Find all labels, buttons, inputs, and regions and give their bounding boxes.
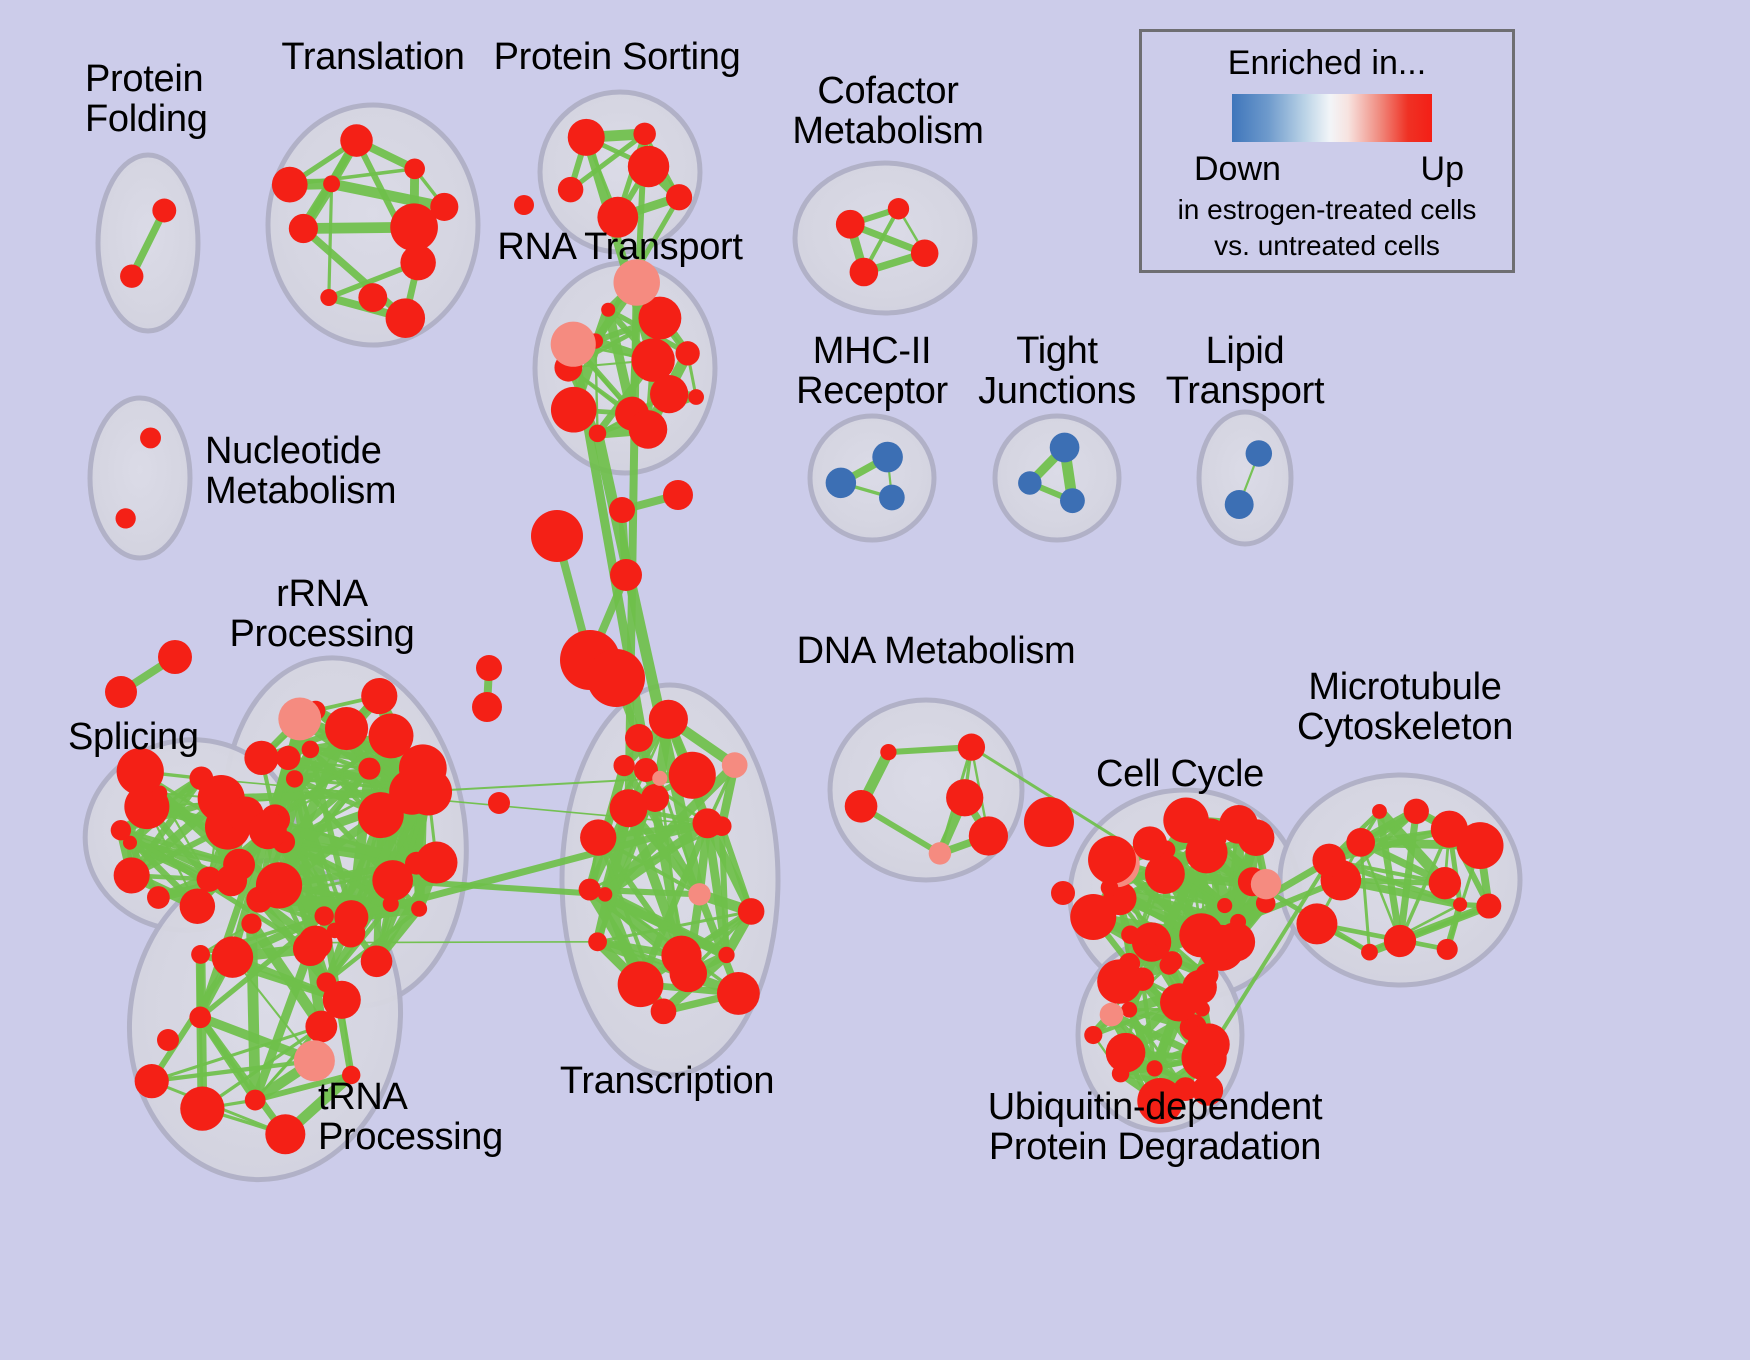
network-node — [215, 865, 247, 897]
network-node — [135, 1064, 169, 1098]
network-node — [416, 842, 458, 884]
enrichment-map-figure: Protein FoldingTranslationProtein Sortin… — [0, 0, 1750, 1360]
network-node — [302, 741, 319, 758]
network-node — [1084, 1026, 1102, 1044]
network-node — [286, 770, 303, 787]
network-node — [669, 752, 716, 799]
legend-panel: Enriched in... Down Up in estrogen-treat… — [1139, 29, 1515, 273]
network-node — [688, 883, 710, 905]
network-node — [383, 896, 399, 912]
network-node — [358, 758, 380, 780]
cluster-label-protein-sorting: Protein Sorting — [494, 38, 741, 78]
legend-high-label: Up — [1421, 150, 1464, 189]
network-node — [1097, 959, 1141, 1003]
network-node — [579, 879, 601, 901]
network-node — [651, 998, 677, 1024]
network-node — [320, 289, 337, 306]
network-node — [140, 427, 161, 448]
network-node — [888, 198, 909, 219]
network-node — [404, 158, 425, 179]
network-node — [289, 214, 318, 243]
network-node — [314, 906, 333, 925]
network-node — [278, 697, 321, 740]
network-node — [650, 375, 688, 413]
network-node — [399, 744, 447, 792]
network-node — [688, 389, 704, 405]
network-node — [340, 124, 373, 157]
network-node — [872, 442, 903, 473]
network-node — [675, 341, 699, 365]
cluster-label-tight-junctions: Tight Junctions — [978, 332, 1136, 412]
network-node — [212, 936, 253, 977]
network-node — [666, 184, 692, 210]
network-node — [1060, 488, 1085, 513]
network-node — [1133, 826, 1167, 860]
network-node — [712, 816, 732, 836]
network-node — [551, 387, 597, 433]
network-node — [618, 961, 664, 1007]
legend-caption-line2: vs. untreated cells — [1142, 230, 1512, 262]
network-node — [880, 744, 896, 760]
cluster-label-nucleotide-metabolism: Nucleotide Metabolism — [205, 432, 396, 512]
network-node — [969, 816, 1008, 855]
network-node — [879, 485, 905, 511]
network-node — [718, 947, 734, 963]
cluster-label-cell-cycle: Cell Cycle — [1096, 755, 1264, 795]
network-node — [1143, 943, 1160, 960]
network-node — [1246, 440, 1272, 466]
network-node — [111, 820, 131, 840]
network-node — [325, 707, 368, 750]
legend-color-bar — [1232, 94, 1432, 142]
network-node — [670, 955, 707, 992]
network-node — [958, 734, 985, 761]
network-node — [738, 898, 765, 925]
network-node — [836, 210, 865, 239]
network-node — [613, 755, 634, 776]
network-node — [845, 790, 878, 823]
network-node — [1453, 897, 1467, 911]
network-node — [1251, 869, 1281, 899]
network-node — [400, 245, 435, 280]
network-node — [430, 193, 458, 221]
network-node — [722, 752, 748, 778]
network-node — [601, 303, 615, 317]
network-node — [1372, 804, 1387, 819]
network-node — [1182, 970, 1217, 1005]
network-node — [1217, 898, 1232, 913]
network-node — [361, 678, 397, 714]
cluster-label-lipid-transport: Lipid Transport — [1166, 332, 1325, 412]
network-node — [717, 972, 760, 1015]
network-node — [189, 766, 213, 790]
network-node — [1296, 903, 1337, 944]
network-node — [1100, 1003, 1124, 1027]
network-node — [589, 425, 606, 442]
network-node — [1429, 867, 1461, 899]
network-node — [323, 175, 340, 192]
network-node — [249, 811, 287, 849]
network-node — [850, 258, 879, 287]
network-node — [276, 746, 300, 770]
network-node — [1361, 944, 1378, 961]
network-node — [323, 981, 361, 1019]
cluster-label-microtubule-cytoskeleton: Microtubule Cytoskeleton — [1297, 668, 1513, 748]
network-node — [265, 1114, 305, 1154]
network-node — [244, 741, 278, 775]
network-node — [580, 819, 616, 855]
network-node — [1050, 433, 1080, 463]
network-node — [1476, 894, 1501, 919]
network-node — [1346, 828, 1375, 857]
network-node — [191, 945, 210, 964]
network-node — [180, 889, 216, 925]
network-node — [147, 886, 170, 909]
network-node — [1160, 956, 1179, 975]
network-node — [1219, 805, 1258, 844]
network-node — [628, 146, 669, 187]
network-node — [649, 700, 688, 739]
network-node — [120, 265, 143, 288]
cluster-label-protein-folding: Protein Folding — [85, 60, 208, 140]
network-node — [1088, 836, 1136, 884]
cluster-label-rrna-processing: rRNA Processing — [230, 575, 415, 655]
network-node — [246, 887, 272, 913]
network-node — [189, 1007, 211, 1029]
cluster-label-rna-transport: RNA Transport — [497, 228, 742, 268]
network-node — [361, 945, 393, 977]
network-node — [1121, 1002, 1137, 1018]
network-node — [946, 779, 983, 816]
network-node — [241, 914, 261, 934]
network-node — [826, 468, 856, 498]
network-node — [610, 789, 648, 827]
network-node — [652, 771, 667, 786]
legend-low-label: Down — [1194, 150, 1281, 189]
network-node — [272, 167, 308, 203]
network-node — [568, 119, 605, 156]
network-node — [358, 283, 387, 312]
cluster-label-trna-processing: tRNA Processing — [318, 1078, 503, 1158]
cluster-label-cofactor-metabolism: Cofactor Metabolism — [792, 72, 983, 152]
cluster-label-splicing: Splicing — [68, 718, 199, 758]
legend-caption-line1: in estrogen-treated cells — [1142, 194, 1512, 226]
network-node — [116, 508, 136, 528]
network-node — [558, 177, 583, 202]
network-node — [114, 857, 150, 893]
network-node — [629, 410, 668, 449]
cluster-label-transcription: Transcription — [560, 1062, 774, 1102]
network-node — [245, 1090, 266, 1111]
cluster-label-translation: Translation — [281, 38, 464, 78]
network-node — [1070, 894, 1116, 940]
network-node — [911, 239, 939, 267]
network-node — [1163, 798, 1209, 844]
network-node — [336, 918, 365, 947]
network-node — [1147, 1060, 1163, 1076]
network-node — [180, 1087, 224, 1131]
network-node — [551, 322, 596, 367]
network-node — [152, 199, 176, 223]
cluster-label-ubiquitin-protein-degradation: Ubiquitin-dependent Protein Degradation — [988, 1088, 1322, 1168]
cluster-label-mhc-ii-receptor: MHC-II Receptor — [796, 332, 948, 412]
network-node — [1018, 471, 1041, 494]
network-node — [1437, 939, 1458, 960]
network-node — [1384, 925, 1416, 957]
legend-title: Enriched in... — [1142, 44, 1512, 83]
cluster-label-dna-metabolism: DNA Metabolism — [797, 632, 1076, 672]
network-node — [1225, 490, 1254, 519]
network-node — [1121, 926, 1139, 944]
network-node — [1457, 822, 1504, 869]
network-node — [1188, 1023, 1230, 1065]
network-node — [1216, 922, 1255, 961]
network-node — [386, 298, 426, 338]
network-node — [1312, 844, 1345, 877]
network-node — [1404, 799, 1429, 824]
network-node — [588, 932, 607, 951]
network-node — [929, 842, 951, 864]
network-node — [633, 123, 656, 146]
network-node — [1112, 1065, 1129, 1082]
network-node — [293, 931, 328, 966]
network-node — [411, 901, 427, 917]
